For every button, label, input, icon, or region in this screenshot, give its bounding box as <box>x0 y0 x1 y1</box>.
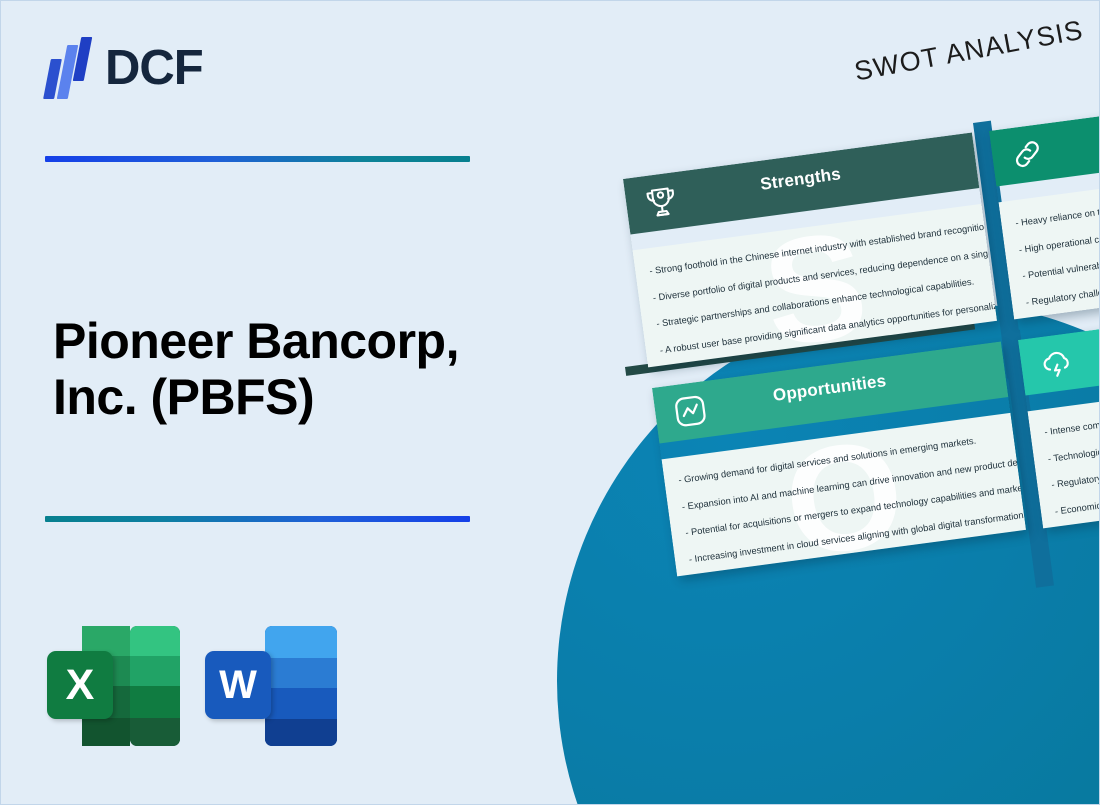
bullet-list-opportunities: Growing demand for digital services and … <box>662 413 1025 568</box>
poster-canvas: SWOT ANALYSIS <box>0 0 1100 805</box>
page-title: Pioneer Bancorp, Inc. (PBFS) <box>53 313 523 425</box>
card-title-strengths: Strengths <box>625 146 977 212</box>
brand-logo[interactable]: DCF <box>45 37 203 99</box>
word-letter: W <box>219 665 257 705</box>
swot-card-threats[interactable]: Threats T Intense competition in the sec… <box>1018 293 1100 528</box>
word-download-icon[interactable]: W <box>205 624 338 748</box>
bar-chart-logo-icon <box>45 37 91 99</box>
download-icons: X W <box>47 624 338 748</box>
list-item: Growing demand for digital services and … <box>678 434 993 487</box>
swot-card-weaknesses[interactable]: Weaknesses W Heavy reliance on the domes… <box>989 84 1100 319</box>
excel-letter: X <box>66 664 95 707</box>
list-item: Regulatory pressure increasing. <box>1051 438 1100 491</box>
excel-download-icon[interactable]: X <box>47 624 180 748</box>
word-badge: W <box>205 651 271 719</box>
card-header-weaknesses: Weaknesses <box>989 84 1100 186</box>
bullet-list-strengths: Strong foothold in the Chinese internet … <box>633 204 996 359</box>
list-item: Intense competition in the sector. <box>1044 386 1100 439</box>
card-title-threats: Threats <box>1020 307 1100 373</box>
card-body-opportunities: O Growing demand for digital services an… <box>662 413 1027 577</box>
swot-card-opportunities[interactable]: Opportunities O Growing demand for digit… <box>652 341 1026 576</box>
card-body-strengths: S Strong foothold in the Chinese interne… <box>633 204 998 368</box>
divider-bottom <box>45 516 470 522</box>
list-item: Strong foothold in the Chinese internet … <box>649 225 964 278</box>
card-title-weaknesses: Weaknesses <box>991 98 1100 164</box>
card-title-opportunities: Opportunities <box>654 355 1006 421</box>
swot-card-strengths[interactable]: Strengths S Strong foothold in the Chine… <box>623 132 997 367</box>
brand-logo-text: DCF <box>105 44 203 93</box>
list-item: Economic downturn exposure. <box>1054 465 1100 518</box>
list-item: Heavy reliance on the domestic market. <box>1015 177 1100 230</box>
excel-badge: X <box>47 651 113 719</box>
divider-top <box>45 156 470 162</box>
left-panel: DCF Pioneer Bancorp, Inc. (PBFS) X <box>1 1 541 805</box>
